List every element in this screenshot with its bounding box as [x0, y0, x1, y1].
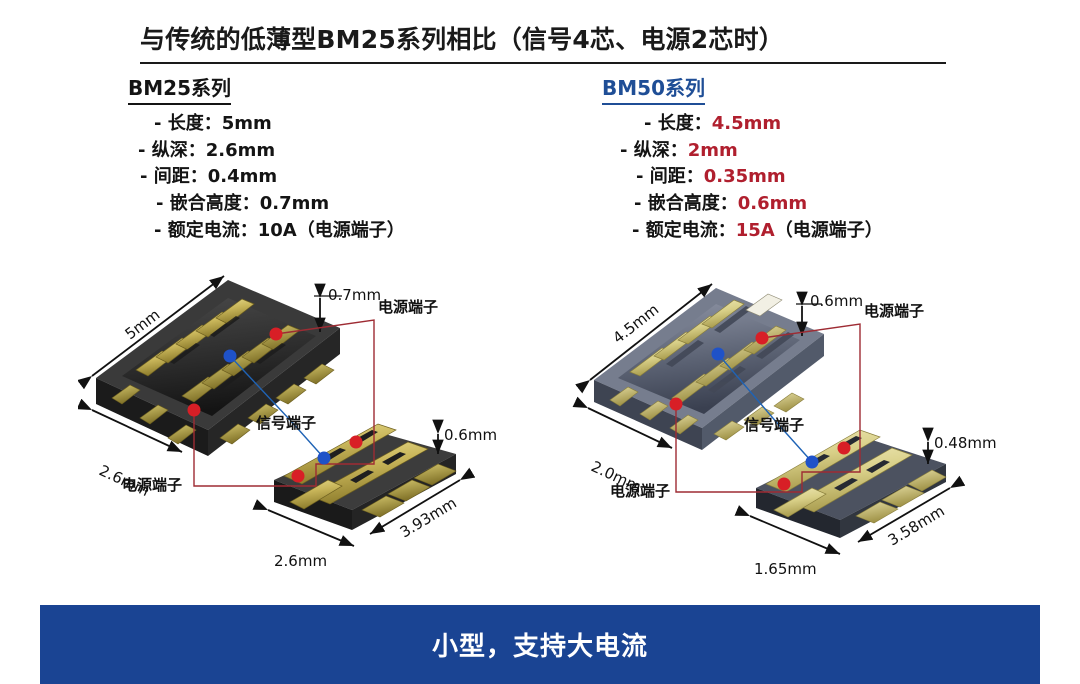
spec-value: 0.4mm: [208, 166, 277, 187]
signal-terminal-marker: [224, 350, 237, 363]
dimension-label: 0.6mm: [810, 292, 863, 310]
spec-label: - 长度：: [644, 113, 712, 134]
spec-row-length: - 长度：5mm: [128, 111, 405, 138]
spec-value: 5mm: [222, 113, 272, 134]
spec-row-pitch: - 间距：0.4mm: [128, 164, 405, 191]
spec-row-pitch: - 间距：0.35mm: [602, 164, 883, 191]
figure-bm50: 4.5mm 2.0mm 0.6mm 0.48mm 3.58mm 1.65mm 电: [568, 258, 1038, 588]
spec-list-bm25: - 长度：5mm - 纵深：2.6mm - 间距：0.4mm - 嵌合高度：0.…: [128, 111, 405, 244]
dimension-label: 0.7mm: [328, 286, 381, 304]
power-terminal-marker: [838, 442, 851, 455]
dimension-0-48mm: 0.48mm: [928, 434, 997, 464]
spec-suffix: （电源端子）: [775, 220, 883, 241]
figure-bm25: 5mm 2.6mm 0.7mm 0.6mm 3.93mm 2.6mm: [78, 258, 538, 588]
spec-row-depth: - 纵深：2mm: [602, 138, 883, 165]
spec-list-bm50: - 长度：4.5mm - 纵深：2mm - 间距：0.35mm - 嵌合高度：0…: [602, 111, 883, 244]
spec-value: 0.7mm: [260, 193, 329, 214]
spec-label: - 长度：: [154, 113, 222, 134]
spec-label: - 间距：: [140, 166, 208, 187]
dimension-label: 1.65mm: [754, 560, 817, 578]
dimension-0-6mm: 0.6mm: [438, 426, 497, 454]
dimension-label: 0.6mm: [444, 426, 497, 444]
spec-value: 0.35mm: [704, 166, 786, 187]
dimension-label: 0.48mm: [934, 434, 997, 452]
dimension-label: 2.6mm: [274, 552, 327, 570]
spec-row-length: - 长度：4.5mm: [602, 111, 883, 138]
spec-heading-bm25: BM25系列: [128, 72, 231, 105]
spec-value: 2mm: [688, 140, 738, 161]
spec-row-rated-current: - 额定电流：10A（电源端子）: [128, 218, 405, 245]
spec-row-mated-height: - 嵌合高度：0.7mm: [128, 191, 405, 218]
spec-value: 15A: [736, 220, 775, 241]
spec-label: - 额定电流：: [154, 220, 258, 241]
banner-text: 小型，支持大电流: [432, 626, 648, 663]
annotation-signal-terminal: 信号端子: [744, 416, 804, 434]
power-terminal-marker: [756, 332, 769, 345]
spec-label: - 纵深：: [620, 140, 688, 161]
power-terminal-marker: [270, 328, 283, 341]
spec-label: - 纵深：: [138, 140, 206, 161]
power-terminal-marker: [670, 398, 683, 411]
spec-row-mated-height: - 嵌合高度：0.6mm: [602, 191, 883, 218]
spec-column-bm25: BM25系列 - 长度：5mm - 纵深：2.6mm - 间距：0.4mm - …: [128, 72, 405, 244]
spec-value: 2.6mm: [206, 140, 275, 161]
spec-heading-bm50: BM50系列: [602, 72, 705, 105]
page-title: 与传统的低薄型BM25系列相比（信号4芯、电源2芯时）: [140, 20, 946, 64]
annotation-power-terminal-top: 电源端子: [378, 298, 438, 316]
power-terminal-marker: [778, 478, 791, 491]
signal-terminal-marker: [806, 456, 819, 469]
annotation-power-terminal-top: 电源端子: [864, 302, 924, 320]
spec-suffix: （电源端子）: [297, 220, 405, 241]
power-terminal-marker: [188, 404, 201, 417]
spec-column-bm50: BM50系列 - 长度：4.5mm - 纵深：2mm - 间距：0.35mm -…: [602, 72, 883, 244]
spec-row-depth: - 纵深：2.6mm: [128, 138, 405, 165]
spec-label: - 嵌合高度：: [156, 193, 260, 214]
spec-row-rated-current: - 额定电流：15A（电源端子）: [602, 218, 883, 245]
annotation-power-terminal-bottom: 电源端子: [610, 482, 670, 500]
spec-value: 4.5mm: [712, 113, 781, 134]
spec-value: 10A: [258, 220, 297, 241]
signal-terminal-marker: [318, 452, 331, 465]
annotation-power-terminal-bottom: 电源端子: [122, 476, 182, 494]
spec-label: - 嵌合高度：: [634, 193, 738, 214]
spec-label: - 额定电流：: [632, 220, 736, 241]
bottom-banner: 小型，支持大电流: [40, 605, 1040, 684]
spec-label: - 间距：: [636, 166, 704, 187]
annotation-signal-terminal: 信号端子: [256, 414, 316, 432]
spec-value: 0.6mm: [738, 193, 807, 214]
power-terminal-marker: [350, 436, 363, 449]
power-terminal-marker: [292, 470, 305, 483]
signal-terminal-marker: [712, 348, 725, 361]
